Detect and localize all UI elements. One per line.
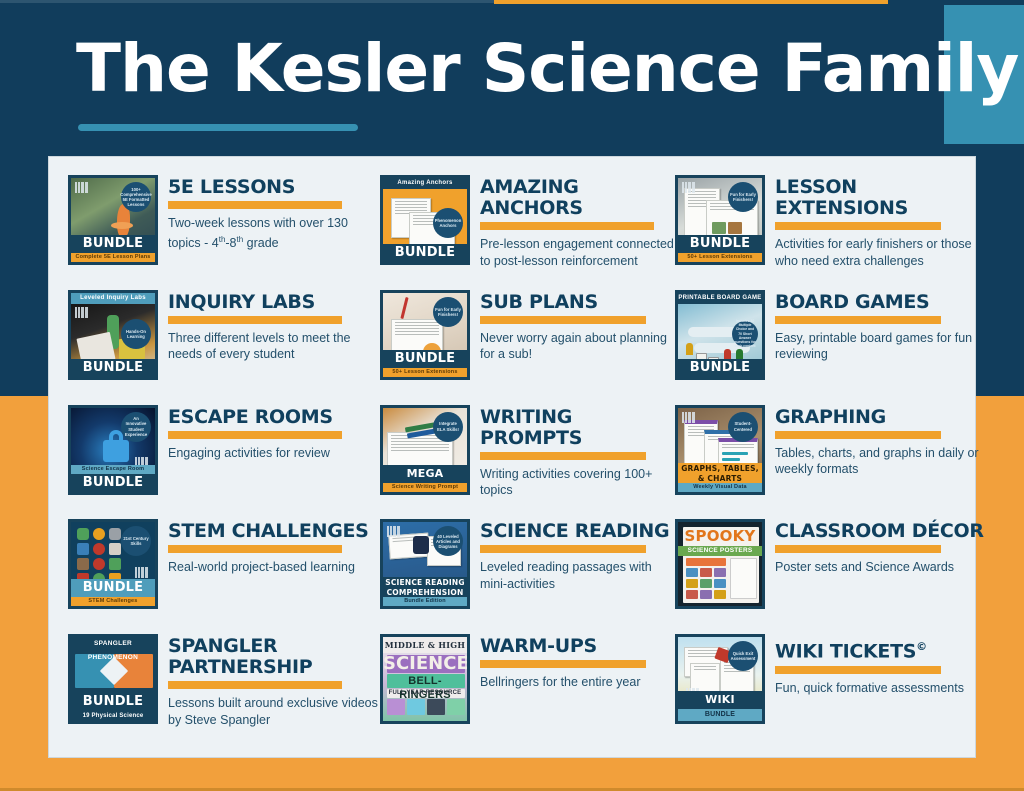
thumbnail-escape-rooms[interactable]: An Innovative Student Experience BUNDLE … — [68, 405, 158, 495]
thumbnail-sub-caption: FULL YEAR RESOURCE — [383, 689, 467, 698]
product-title: WIKI TICKETS© — [775, 636, 996, 662]
product-item-writing-prompts[interactable]: Integrate ELA Skills! MEGA BUNDLE Scienc… — [380, 405, 675, 520]
page-title: The Kesler Science Family — [76, 36, 946, 102]
product-description: Poster sets and Science Awards — [775, 559, 996, 576]
title-rule — [480, 545, 646, 553]
thumbnail-caption: 50+ Lesson Extensions — [383, 368, 467, 377]
title-rule — [480, 222, 654, 230]
thumbnail-sub-plans[interactable]: Fun for Early Finishers! BUNDLE 50+ Less… — [380, 290, 470, 380]
thumbnail-caption: Science Escape Room — [71, 465, 155, 474]
title-rule — [480, 316, 646, 324]
product-description: Real-world project-based learning — [168, 559, 380, 576]
thumbnail-bundle-label: WIKI TICKETS — [678, 691, 762, 709]
product-description: Never worry again about planning for a s… — [480, 330, 675, 363]
product-description: Bellringers for the entire year — [480, 674, 675, 691]
product-title: 5E LESSONS — [168, 177, 380, 198]
product-item-classroom-decor[interactable]: SPOOKY SCIENCE POSTERS CLASSROOM DÉCOR P… — [675, 519, 996, 634]
thumbnail-bundle-label: BUNDLE — [678, 359, 762, 377]
product-description: Three different levels to meet the needs… — [168, 330, 380, 363]
kesler-logo-mark — [682, 182, 697, 193]
title-underline-accent — [78, 124, 358, 131]
title-rule — [168, 431, 342, 439]
thumbnail-bundle-label: GRAPHS, TABLES, & CHARTS — [678, 463, 762, 483]
product-title: AMAZING ANCHORS — [480, 177, 675, 219]
thumbnail-badge: Hands-On Learning — [121, 319, 151, 349]
thumbnail-caption: Weekly Visual Data — [678, 483, 762, 492]
products-card: 100+ Comprehensive 5E Formatted Lessons … — [48, 156, 976, 758]
title-rule — [480, 660, 646, 668]
title-rule — [775, 316, 941, 324]
thumbnail-badge: Fun for Early Finishers! — [728, 182, 758, 212]
product-description: Activities for early finishers or those … — [775, 236, 996, 269]
product-description: Easy, printable board games for fun revi… — [775, 330, 996, 363]
product-title: STEM CHALLENGES — [168, 521, 380, 542]
thumbnail-caption: Science Writing Prompt Activities — [383, 483, 467, 492]
product-item-escape-rooms[interactable]: An Innovative Student Experience BUNDLE … — [68, 405, 380, 520]
thumbnail-writing-prompts[interactable]: Integrate ELA Skills! MEGA BUNDLE Scienc… — [380, 405, 470, 495]
thumbnail-caption: SCIENCE POSTERS — [678, 546, 762, 556]
thumbnail-badge: Fun for Early Finishers! — [433, 297, 463, 327]
thumbnail-bundle-label: BUNDLE — [71, 359, 155, 377]
product-title: SUB PLANS — [480, 292, 675, 313]
thumbnail-badge: Student-Centered — [728, 412, 758, 442]
thumbnail-caption: Bundle Edition — [383, 597, 467, 606]
product-item-science-reading[interactable]: 40 Leveled Articles and Diagrams SCIENCE… — [380, 519, 675, 634]
thumbnail-badge: Phenomenon Anchors — [433, 208, 463, 238]
thumbnail-inquiry-labs[interactable]: Leveled Inquiry Labs Hands-On Learning B… — [68, 290, 158, 380]
thumbnail-bundle-label: BUNDLE — [71, 474, 155, 492]
thumbnail-graphing[interactable]: Student-Centered GRAPHS, TABLES, & CHART… — [675, 405, 765, 495]
thumbnail-5e-lessons[interactable]: 100+ Comprehensive 5E Formatted Lessons … — [68, 175, 158, 265]
product-title: SCIENCE READING — [480, 521, 675, 542]
thumbnail-caption: Complete 5E Lesson Plans — [71, 253, 155, 262]
product-item-warm-ups[interactable]: MIDDLE & HIGH SCIENCE BELL-RINGERS FULL … — [380, 634, 675, 749]
product-title: GRAPHING — [775, 407, 996, 428]
thumbnail-caption: 19 Physical Science Lessons — [71, 711, 155, 721]
product-description: Leveled reading passages with mini-activ… — [480, 559, 675, 592]
title-rule — [775, 545, 941, 553]
product-description: Pre-lesson engagement connected to post-… — [480, 236, 675, 269]
thumbnail-bundle-label: BUNDLE — [383, 244, 467, 262]
poster-canvas: The Kesler Science Family 100+ Comprehen… — [0, 0, 1024, 791]
product-description: Lessons built around exclusive videos by… — [168, 695, 380, 728]
product-item-spangler-partnership[interactable]: SPANGLER PHENOMENON BUNDLE 19 Physical S… — [68, 634, 380, 749]
product-title: INQUIRY LABS — [168, 292, 380, 313]
thumbnail-wiki-tickets[interactable]: Quick Exit Assessment WIKI TICKETS BUNDL… — [675, 634, 765, 724]
thumbnail-caption: BUNDLE — [678, 709, 762, 721]
thumbnail-science-reading[interactable]: 40 Leveled Articles and Diagrams SCIENCE… — [380, 519, 470, 609]
poster-header: The Kesler Science Family — [0, 0, 948, 156]
kesler-logo-mark — [75, 307, 90, 318]
product-description: Fun, quick formative assessments — [775, 680, 996, 697]
product-title-text: WIKI TICKETS — [775, 641, 916, 663]
product-description: Engaging activities for review — [168, 445, 380, 462]
product-item-5e-lessons[interactable]: 100+ Comprehensive 5E Formatted Lessons … — [68, 175, 380, 290]
product-title: ESCAPE ROOMS — [168, 407, 380, 428]
thumbnail-bundle-label: SPOOKY — [678, 528, 762, 545]
product-item-sub-plans[interactable]: Fun for Early Finishers! BUNDLE 50+ Less… — [380, 290, 675, 405]
thumbnail-bundle-label: BUNDLE — [71, 579, 155, 597]
product-description: Writing activities covering 100+ topics — [480, 466, 675, 499]
product-title: CLASSROOM DÉCOR — [775, 521, 996, 542]
thumbnail-classroom-decor[interactable]: SPOOKY SCIENCE POSTERS — [675, 519, 765, 609]
title-rule — [168, 316, 342, 324]
thumbnail-warm-ups[interactable]: MIDDLE & HIGH SCIENCE BELL-RINGERS FULL … — [380, 634, 470, 724]
thumbnail-caption: 50+ Lesson Extensions — [678, 253, 762, 262]
product-item-graphing[interactable]: Student-Centered GRAPHS, TABLES, & CHART… — [675, 405, 996, 520]
thumbnail-top-caption: SPANGLER PHENOMENON — [71, 637, 155, 651]
thumbnail-top-caption: Leveled Inquiry Labs — [71, 293, 155, 304]
thumbnail-spangler[interactable]: SPANGLER PHENOMENON BUNDLE 19 Physical S… — [68, 634, 158, 724]
thumbnail-top-caption: PRINTABLE BOARD GAME — [678, 293, 762, 304]
product-item-wiki-tickets[interactable]: Quick Exit Assessment WIKI TICKETS BUNDL… — [675, 634, 996, 749]
product-item-board-games[interactable]: PRINTABLE BOARD GAME Includes 10 Multipl… — [675, 290, 996, 405]
kesler-logo-mark — [75, 182, 90, 193]
thumbnail-bundle-label: BUNDLE — [71, 235, 155, 253]
kesler-logo-mark — [387, 526, 402, 537]
product-description: Two-week lessons with over 130 topics - … — [168, 215, 380, 251]
product-item-lesson-extensions[interactable]: Fun for Early Finishers! BUNDLE 50+ Less… — [675, 175, 996, 290]
title-rule — [168, 545, 342, 553]
thumbnail-amazing-anchors[interactable]: Amazing Anchors Phenomenon Anchors BUNDL… — [380, 175, 470, 265]
kesler-logo-mark — [682, 412, 697, 423]
title-rule — [168, 681, 342, 689]
thumbnail-badge: Includes 10 Multiple Choice and 70 Short… — [732, 321, 758, 347]
product-item-stem-challenges[interactable]: 21st Century Skills BUNDLE STEM Challeng… — [68, 519, 380, 634]
thumbnail-bundle-label: MEGA BUNDLE — [383, 465, 467, 483]
thumbnail-bundle-label: BUNDLE — [383, 350, 467, 368]
thumbnail-lesson-extensions[interactable]: Fun for Early Finishers! BUNDLE 50+ Less… — [675, 175, 765, 265]
thumbnail-bundle-label: SCIENCE READING COMPREHENSION — [383, 577, 467, 597]
title-rule — [775, 222, 941, 230]
thumbnail-badge: An Innovative Student Experience — [121, 412, 151, 442]
thumbnail-top-caption: Amazing Anchors — [383, 178, 467, 189]
kesler-logo-mark — [135, 567, 150, 578]
title-rule — [480, 452, 646, 460]
thumbnail-caption: STEM Challenges — [71, 597, 155, 606]
product-title: BOARD GAMES — [775, 292, 996, 313]
thumbnail-caption: BELL-RINGERS — [383, 674, 467, 688]
thumbnail-top-caption: MIDDLE & HIGH — [383, 637, 467, 653]
thumbnail-bundle-label: SCIENCE — [383, 655, 467, 673]
thumbnail-stem-challenges[interactable]: 21st Century Skills BUNDLE STEM Challeng… — [68, 519, 158, 609]
product-item-inquiry-labs[interactable]: Leveled Inquiry Labs Hands-On Learning B… — [68, 290, 380, 405]
product-title: WRITING PROMPTS — [480, 407, 675, 449]
title-rule — [775, 431, 941, 439]
title-rule — [775, 666, 941, 674]
product-title: LESSON EXTENSIONS — [775, 177, 996, 219]
products-grid: 100+ Comprehensive 5E Formatted Lessons … — [49, 157, 975, 757]
title-rule — [168, 201, 342, 209]
product-title: SPANGLER PARTNERSHIP — [168, 636, 380, 678]
thumbnail-badge: Quick Exit Assessment — [728, 641, 758, 671]
thumbnail-badge: 100+ Comprehensive 5E Formatted Lessons — [121, 182, 151, 212]
thumbnail-bundle-label: BUNDLE — [678, 235, 762, 253]
thumbnail-bundle-label: BUNDLE — [71, 693, 155, 711]
copyright-symbol: © — [916, 640, 927, 653]
product-item-amazing-anchors[interactable]: Amazing Anchors Phenomenon Anchors BUNDL… — [380, 175, 675, 290]
thumbnail-badge: Integrate ELA Skills! — [433, 412, 463, 442]
thumbnail-board-games[interactable]: PRINTABLE BOARD GAME Includes 10 Multipl… — [675, 290, 765, 380]
product-description: Tables, charts, and graphs in daily or w… — [775, 445, 996, 478]
product-title: WARM-UPS — [480, 636, 675, 657]
